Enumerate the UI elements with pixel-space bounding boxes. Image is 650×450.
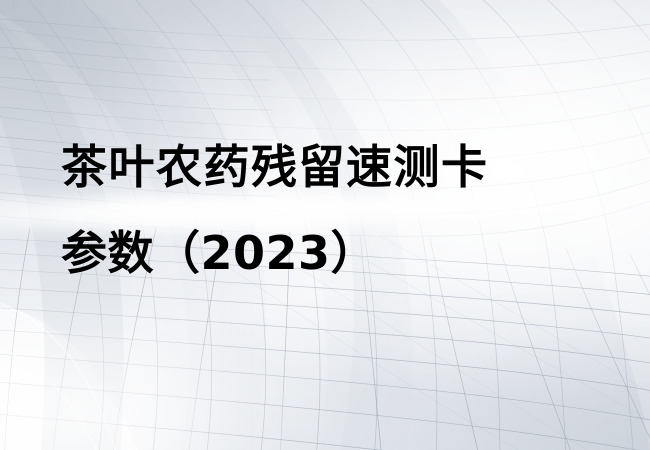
title-banner: 茶叶农药残留速测卡 参数（2023） (0, 0, 650, 450)
title-line-secondary: 参数（2023） (61, 224, 581, 282)
title-line-primary: 茶叶农药残留速测卡 (61, 138, 581, 196)
banner-title: 茶叶农药残留速测卡 参数（2023） (61, 138, 581, 282)
